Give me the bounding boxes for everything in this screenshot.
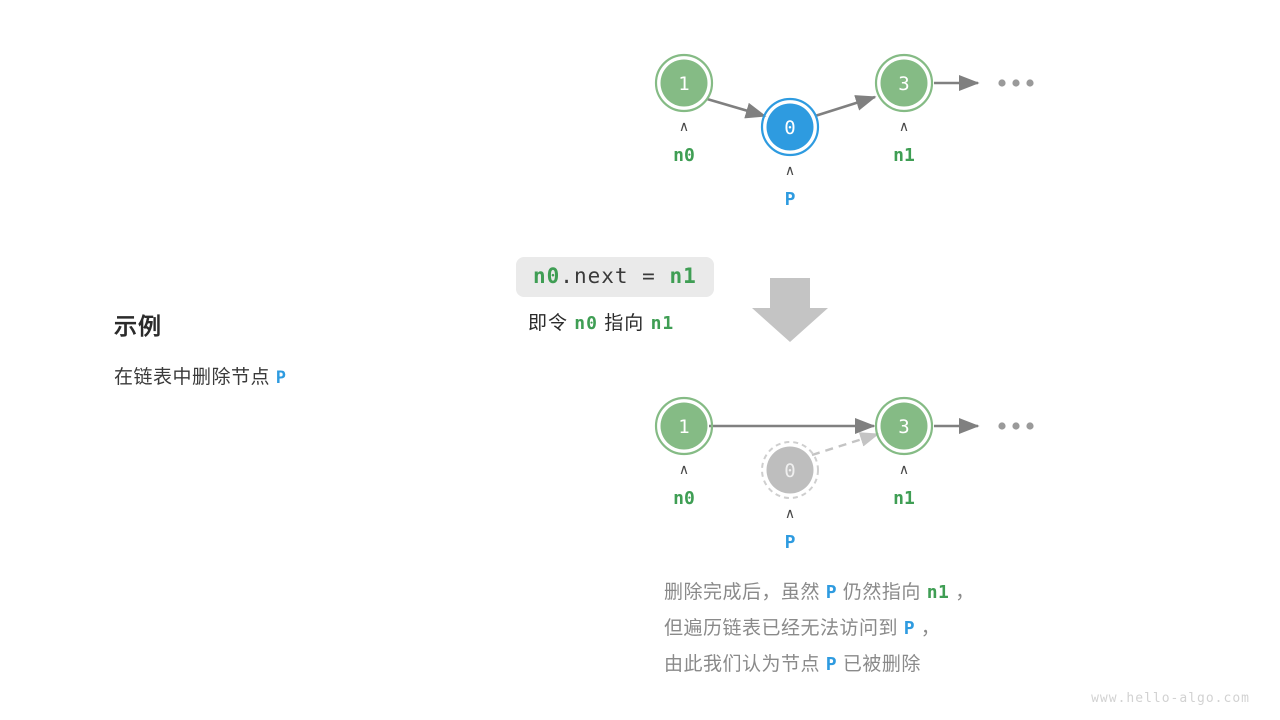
caret-icon: ∧: [679, 119, 689, 135]
ellipsis-dot: [1026, 422, 1033, 429]
node-value: 1: [678, 416, 689, 438]
note-1-text-b: 仍然指向: [843, 582, 921, 603]
caret-icon: ∧: [679, 462, 689, 478]
after-node-n0: 1 ∧ n0: [656, 398, 712, 509]
ellipsis-dot: [998, 422, 1005, 429]
before-node-p: 0 ∧ P: [762, 99, 818, 210]
after-node-n1: 3 ∧ n1: [876, 398, 932, 509]
note-1-token-p: P: [826, 582, 837, 603]
note-2-text-b: ，: [921, 618, 941, 639]
edge-p-to-n1-dashed: [812, 434, 878, 455]
note-line-2: 但遍历链表已经无法访问到 P ，: [664, 611, 975, 647]
node-label-p: P: [785, 189, 796, 210]
diagram-canvas: 示例 在链表中删除节点 P 1 ∧ n0: [0, 0, 1280, 720]
after-ellipsis: [998, 422, 1033, 429]
caret-icon: ∧: [899, 462, 909, 478]
code-token-n1: n1: [669, 264, 696, 288]
node-label-n0: n0: [673, 488, 695, 509]
note-2-text-a: 但遍历链表已经无法访问到: [664, 618, 898, 639]
code-snippet-chip: n0.next = n1: [516, 257, 714, 297]
node-value: 1: [678, 73, 689, 95]
caption-prefix: 即令: [528, 313, 568, 334]
node-outer-ring: [762, 99, 818, 155]
node-body: [881, 60, 928, 107]
example-description-text: 在链表中删除节点: [114, 367, 270, 388]
node-outer-ring-dashed: [762, 442, 818, 498]
node-body: [661, 60, 708, 107]
caret-icon: ∧: [785, 506, 795, 522]
note-3-text-b: 已被删除: [843, 654, 921, 675]
node-value: 3: [898, 73, 909, 95]
code-token-n0: n0: [533, 264, 560, 288]
note-3-token-p: P: [826, 654, 837, 675]
node-label-p: P: [785, 532, 796, 553]
caret-icon: ∧: [785, 163, 795, 179]
ellipsis-dot: [998, 79, 1005, 86]
page-title: 示例: [114, 312, 454, 342]
node-value: 0: [784, 460, 795, 482]
node-outer-ring: [656, 55, 712, 111]
note-1-token-n1: n1: [927, 582, 950, 603]
after-edges: [709, 426, 978, 455]
before-node-n0: 1 ∧ n0: [656, 55, 712, 166]
caption-token-n0: n0: [574, 313, 598, 334]
note-1-text-a: 删除完成后，虽然: [664, 582, 820, 603]
down-arrow-shape: [752, 278, 828, 342]
note-line-3: 由此我们认为节点 P 已被删除: [664, 647, 975, 683]
edge-n0-to-p: [707, 99, 765, 116]
watermark: www.hello-algo.com: [1091, 691, 1250, 706]
ellipsis-dot: [1026, 79, 1033, 86]
explanatory-notes: 删除完成后，虽然 P 仍然指向 n1 ， 但遍历链表已经无法访问到 P ， 由此…: [664, 575, 975, 683]
note-3-text-a: 由此我们认为节点: [664, 654, 820, 675]
node-label-n1: n1: [893, 145, 915, 166]
example-description: 在链表中删除节点 P: [114, 365, 454, 392]
node-body: [881, 403, 928, 450]
ellipsis-dot: [1012, 422, 1019, 429]
node-value: 3: [898, 416, 909, 438]
note-line-1: 删除完成后，虽然 P 仍然指向 n1 ，: [664, 575, 975, 611]
note-2-token-p: P: [904, 618, 915, 639]
left-explanation-panel: 示例 在链表中删除节点 P: [114, 312, 454, 391]
node-label-n1: n1: [893, 488, 915, 509]
pointer-token-p: P: [276, 368, 287, 388]
code-caption: 即令 n0 指向 n1: [528, 308, 674, 335]
before-ellipsis: [998, 79, 1033, 86]
after-node-p-deleted: 0 ∧ P: [762, 442, 818, 553]
node-outer-ring: [876, 55, 932, 111]
node-outer-ring: [876, 398, 932, 454]
ellipsis-dot: [1012, 79, 1019, 86]
node-body: [767, 104, 814, 151]
note-1-text-c: ，: [955, 582, 975, 603]
code-token-middle: .next =: [560, 264, 669, 288]
caret-icon: ∧: [899, 119, 909, 135]
node-outer-ring: [656, 398, 712, 454]
down-arrow-icon: [752, 278, 828, 342]
node-body-deleted: [767, 447, 814, 494]
before-node-n1: 3 ∧ n1: [876, 55, 932, 166]
node-value: 0: [784, 117, 795, 139]
edge-p-to-n1: [815, 97, 875, 116]
node-body: [661, 403, 708, 450]
before-edges: [707, 83, 978, 116]
caption-middle: 指向: [604, 313, 644, 334]
caption-token-n1: n1: [651, 313, 675, 334]
node-label-n0: n0: [673, 145, 695, 166]
